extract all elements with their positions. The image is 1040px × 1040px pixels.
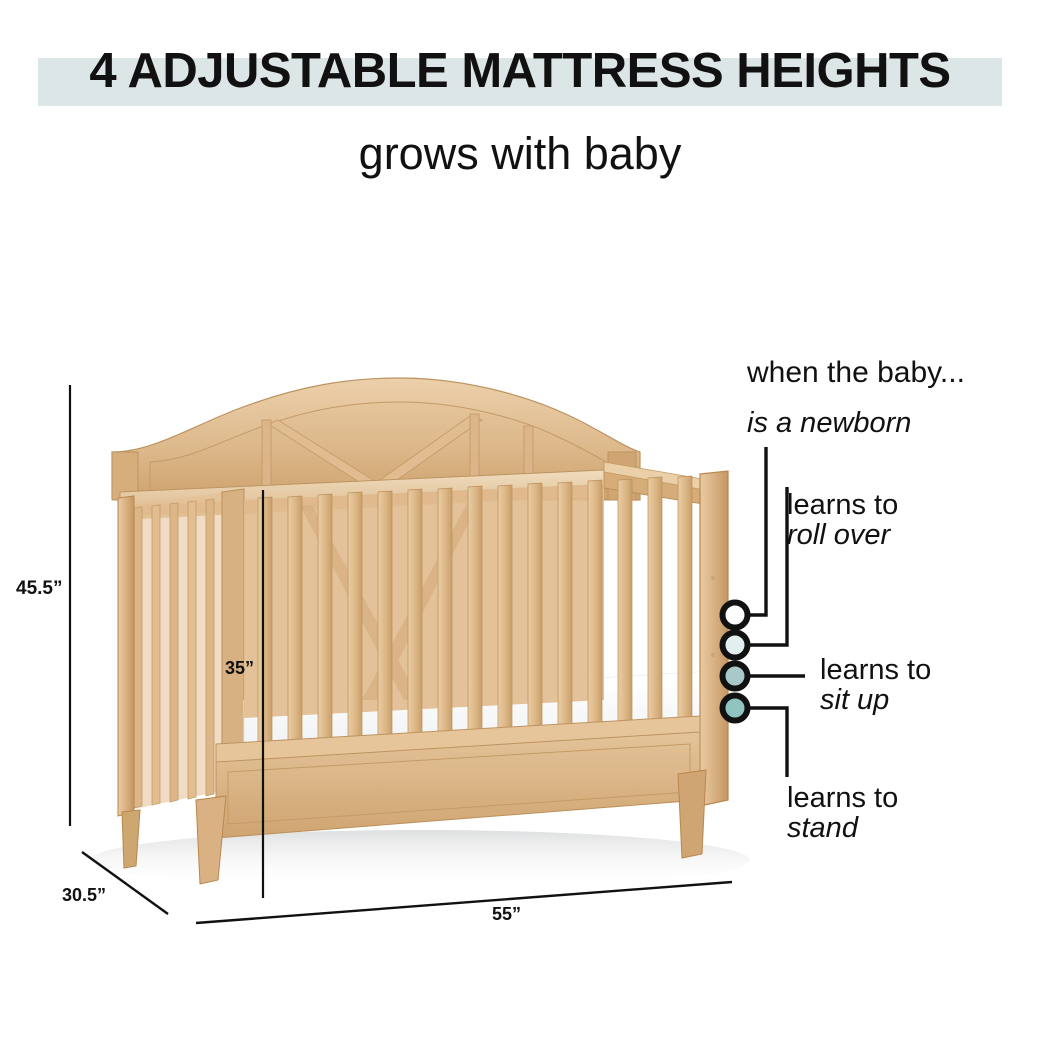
infographic-canvas: 4 ADJUSTABLE MATTRESS HEIGHTS grows with… — [0, 0, 1040, 1040]
mattress-height-marker-4[interactable] — [723, 696, 748, 721]
stage-label-roll-over: learns to roll over — [787, 490, 898, 551]
depth-dimension-label: 30.5” — [62, 885, 106, 906]
annotation-heading: when the baby... — [747, 357, 965, 389]
stage-stand-line2: stand — [787, 813, 898, 843]
stage-roll-line2: roll over — [787, 520, 898, 550]
stage-label-sit-up: learns to sit up — [820, 655, 931, 716]
mattress-height-marker-3[interactable] — [723, 664, 748, 689]
height-dimension-label: 45.5” — [16, 578, 62, 600]
stage-roll-line1: learns to — [787, 490, 898, 520]
interior-height-dimension-label: 35” — [225, 658, 254, 679]
mattress-height-marker-2[interactable] — [723, 633, 748, 658]
mattress-height-marker-1[interactable] — [723, 603, 748, 628]
stage-sit-line2: sit up — [820, 685, 931, 715]
stage-label-stand: learns to stand — [787, 783, 898, 844]
stage-newborn-line2: is a newborn — [747, 407, 911, 439]
width-dimension-label: 55” — [492, 904, 521, 925]
stage-stand-line1: learns to — [787, 783, 898, 813]
annotation-heading-text: when the baby... — [747, 356, 965, 389]
stage-sit-line1: learns to — [820, 655, 931, 685]
stage-label-newborn: is a newborn — [747, 408, 911, 438]
